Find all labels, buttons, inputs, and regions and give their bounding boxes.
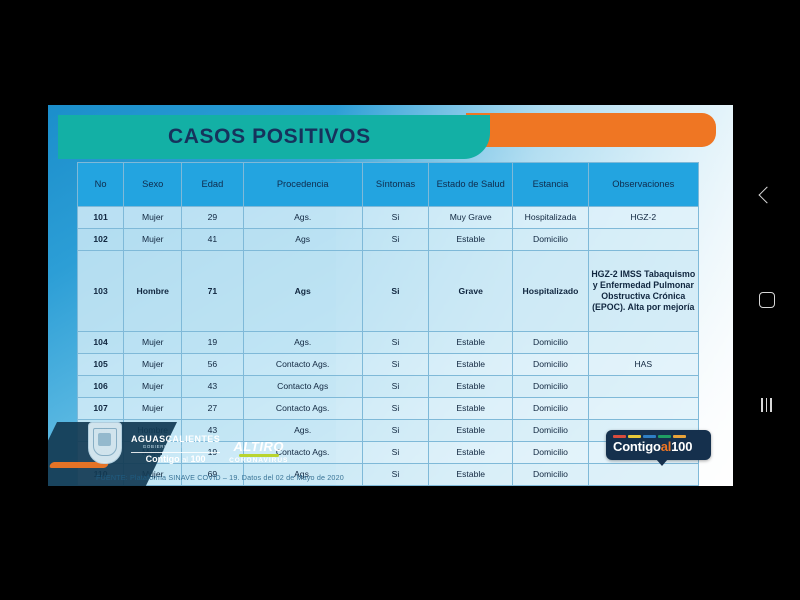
government-tagline: Contigo al 100 — [146, 455, 206, 464]
cell-edad: 56 — [182, 354, 243, 376]
cell-sexo: Mujer — [124, 207, 182, 229]
state-name: AGUASCALIENTES — [131, 435, 220, 444]
recents-icon[interactable] — [733, 385, 800, 425]
cell-sintomas: Si — [362, 464, 428, 486]
cell-estado-salud: Muy Grave — [429, 207, 513, 229]
home-icon[interactable] — [733, 280, 800, 320]
cell-estado-salud: Estable — [429, 376, 513, 398]
cell-no: 101 — [78, 207, 124, 229]
cell-edad: 41 — [182, 229, 243, 251]
cell-estancia: Hospitalizado — [513, 251, 588, 332]
table-header-row: No Sexo Edad Procedencia Síntomas Estado… — [78, 163, 699, 207]
cell-sintomas: Si — [362, 398, 428, 420]
badge-contigo: Contigo — [613, 439, 661, 454]
column-header-observaciones: Observaciones — [588, 163, 698, 207]
cell-no: 107 — [78, 398, 124, 420]
title-band: CASOS POSITIVOS — [58, 115, 490, 159]
column-header-estado-salud: Estado de Salud — [429, 163, 513, 207]
cell-no: 105 — [78, 354, 124, 376]
presentation-slide: CASOS POSITIVOS No Sexo Edad Procedencia… — [48, 105, 733, 486]
cell-estado-salud: Estable — [429, 398, 513, 420]
cell-observaciones — [588, 229, 698, 251]
cell-sintomas: Si — [362, 354, 428, 376]
cell-estado-salud: Estable — [429, 420, 513, 442]
source-note: FUENTE: Plataforma SINAVE COVID – 19. Da… — [96, 473, 344, 482]
cell-estancia: Domicilio — [513, 442, 588, 464]
phone-screen: CASOS POSITIVOS No Sexo Edad Procedencia… — [0, 0, 800, 600]
cell-procedencia: Contacto Ags — [243, 376, 362, 398]
page-title: CASOS POSITIVOS — [168, 125, 371, 149]
cell-sintomas: Si — [362, 332, 428, 354]
cell-estancia: Domicilio — [513, 398, 588, 420]
cell-sintomas: Si — [362, 420, 428, 442]
table-row: 104Mujer19Ags.SiEstableDomicilio — [78, 332, 699, 354]
table-row: 101Mujer29Ags.SiMuy GraveHospitalizadaHG… — [78, 207, 699, 229]
cell-sintomas: Si — [362, 207, 428, 229]
cell-no: 106 — [78, 376, 124, 398]
tagline-100: 100 — [190, 454, 205, 464]
column-header-sexo: Sexo — [124, 163, 182, 207]
cell-estancia: Domicilio — [513, 354, 588, 376]
cell-estancia: Domicilio — [513, 332, 588, 354]
badge-stripe — [658, 435, 671, 438]
cell-observaciones — [588, 464, 698, 486]
cell-sintomas: Si — [362, 229, 428, 251]
altiro-logo: ALTIRO CORONAVIRUS — [229, 440, 288, 465]
cell-sexo: Mujer — [124, 332, 182, 354]
cell-estado-salud: Estable — [429, 229, 513, 251]
cell-edad: 19 — [182, 332, 243, 354]
badge-stripe — [643, 435, 656, 438]
cell-no: 104 — [78, 332, 124, 354]
cell-sexo: Hombre — [124, 251, 182, 332]
cell-observaciones — [588, 332, 698, 354]
footer-logos: AGUASCALIENTES GOBIERNO DEL ESTADO Conti… — [88, 422, 288, 464]
column-header-no: No — [78, 163, 124, 207]
column-header-estancia: Estancia — [513, 163, 588, 207]
cell-estado-salud: Estable — [429, 442, 513, 464]
back-icon[interactable] — [733, 175, 800, 215]
cell-sintomas: Si — [362, 251, 428, 332]
orange-accent-bar — [466, 113, 716, 147]
cell-no: 102 — [78, 229, 124, 251]
government-logo: AGUASCALIENTES GOBIERNO DEL ESTADO Conti… — [131, 435, 220, 464]
badge-stripe — [613, 435, 626, 438]
cell-sexo: Mujer — [124, 376, 182, 398]
badge-100: 100 — [671, 439, 692, 454]
cell-sintomas: Si — [362, 376, 428, 398]
aguascalientes-coat-of-arms-icon — [88, 422, 122, 464]
cell-estancia: Hospitalizada — [513, 207, 588, 229]
android-navigation-bar — [733, 0, 800, 600]
altiro-wordmark: ALTIRO — [234, 440, 284, 453]
cell-estado-salud: Estable — [429, 464, 513, 486]
cell-sintomas: Si — [362, 442, 428, 464]
table-row: 103Hombre71AgsSiGraveHospitalizadoHGZ-2 … — [78, 251, 699, 332]
cell-estado-salud: Estable — [429, 332, 513, 354]
cell-procedencia: Contacto Ags. — [243, 398, 362, 420]
cell-procedencia: Ags — [243, 251, 362, 332]
badge-al: al — [661, 439, 671, 454]
column-header-sintomas: Síntomas — [362, 163, 428, 207]
cell-observaciones — [588, 398, 698, 420]
cell-edad: 29 — [182, 207, 243, 229]
table-row: 106Mujer43Contacto AgsSiEstableDomicilio — [78, 376, 699, 398]
badge-stripes — [613, 435, 686, 438]
cell-edad: 71 — [182, 251, 243, 332]
cell-estado-salud: Estable — [429, 354, 513, 376]
cell-edad: 27 — [182, 398, 243, 420]
cell-sexo: Mujer — [124, 229, 182, 251]
cell-observaciones: HGZ-2 IMSS Tabaquismo y Enfermedad Pulmo… — [588, 251, 698, 332]
altiro-caption: CORONAVIRUS — [229, 458, 288, 465]
column-header-procedencia: Procedencia — [243, 163, 362, 207]
tagline-al: al — [182, 455, 188, 464]
column-header-edad: Edad — [182, 163, 243, 207]
state-subtitle: GOBIERNO DEL ESTADO — [143, 445, 209, 449]
cell-estancia: Domicilio — [513, 376, 588, 398]
table-row: 102Mujer41AgsSiEstableDomicilio — [78, 229, 699, 251]
cell-sexo: Mujer — [124, 354, 182, 376]
cell-observaciones — [588, 376, 698, 398]
badge-stripe — [628, 435, 641, 438]
badge-text: Contigoal100 — [613, 440, 692, 453]
cell-procedencia: Contacto Ags. — [243, 354, 362, 376]
tagline-contigo: Contigo — [146, 454, 180, 464]
cell-edad: 43 — [182, 376, 243, 398]
cell-sexo: Mujer — [124, 398, 182, 420]
cell-observaciones: HGZ-2 — [588, 207, 698, 229]
cell-estancia: Domicilio — [513, 420, 588, 442]
cell-estancia: Domicilio — [513, 229, 588, 251]
cell-procedencia: Ags — [243, 229, 362, 251]
cell-estancia: Domicilio — [513, 464, 588, 486]
table-row: 105Mujer56Contacto Ags.SiEstableDomicili… — [78, 354, 699, 376]
cell-procedencia: Ags. — [243, 207, 362, 229]
cell-estado-salud: Grave — [429, 251, 513, 332]
cell-procedencia: Ags. — [243, 332, 362, 354]
cell-observaciones: HAS — [588, 354, 698, 376]
badge-stripe — [673, 435, 686, 438]
contigo-al-100-badge: Contigoal100 — [606, 430, 711, 460]
logo-divider — [131, 452, 220, 453]
cell-no: 103 — [78, 251, 124, 332]
table-row: 107Mujer27Contacto Ags.SiEstableDomicili… — [78, 398, 699, 420]
